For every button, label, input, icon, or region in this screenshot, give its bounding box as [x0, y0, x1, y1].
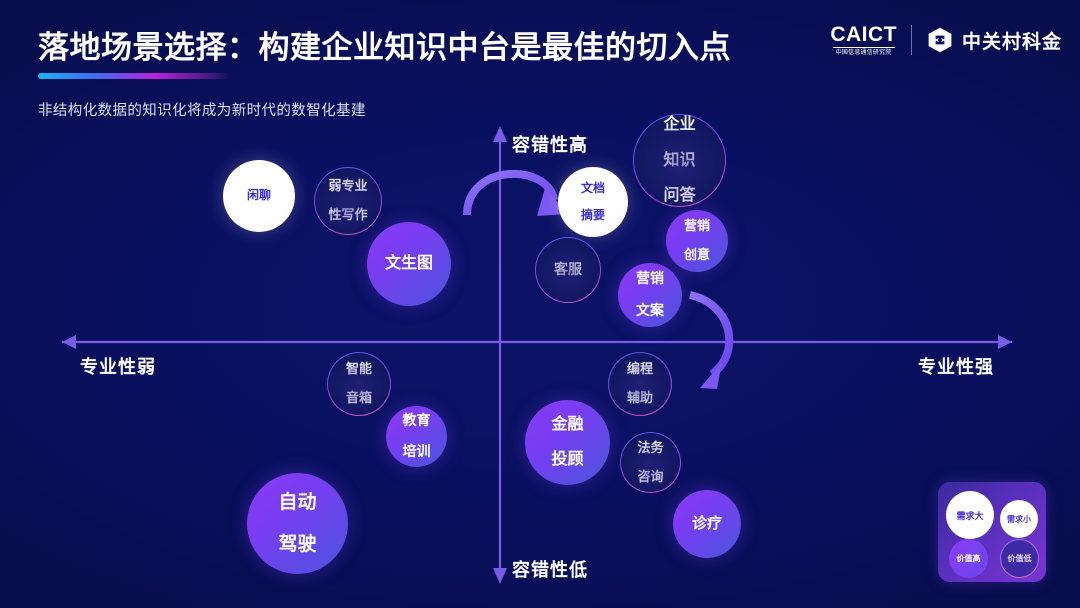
legend-panel: 需求大 需求小 价值高 价值低: [938, 482, 1046, 582]
bubble-jiaoyu-peixun[interactable]: 教育 培训: [386, 406, 447, 467]
slide-header: 落地场景选择：构建企业知识中台是最佳的切入点 非结构化数据的知识化将成为新时代的…: [0, 0, 1080, 92]
axis-label-bottom: 容错性低: [512, 556, 588, 582]
caict-rule: [833, 47, 895, 48]
bubble-label-line2: 摘要: [581, 209, 605, 222]
bubble-wenshengtu[interactable]: 文生图: [367, 222, 451, 306]
bubble-label-line1: 智能: [346, 362, 372, 377]
bubble-label-line2: 驾驶: [278, 534, 316, 555]
bubble-label-line1: 企业: [663, 116, 695, 134]
bubble-yingxiao-chuangyi[interactable]: 营销 创意: [666, 210, 728, 272]
bubble-label-line1: 法务: [637, 441, 663, 456]
legend-value-low: 价值低: [1000, 539, 1039, 578]
bubble-label-line2: 文案: [636, 303, 664, 319]
partner-logo: 中关村科金: [926, 26, 1062, 54]
slide-root: 落地场景选择：构建企业知识中台是最佳的切入点 非结构化数据的知识化将成为新时代的…: [0, 0, 1080, 608]
legend-demand-low: 需求小: [1000, 500, 1038, 538]
partner-name: 中关村科金: [962, 27, 1062, 54]
bubble-yingxiao-wenan[interactable]: 营销 文案: [618, 263, 682, 327]
legend-label: 需求大: [956, 509, 983, 522]
bubble-label-line1: 营销: [636, 271, 664, 287]
cube-logo-icon: [926, 26, 954, 54]
bubble-label-line1: 教育: [403, 413, 431, 429]
bubble-wendang-zhaiyao[interactable]: 文档 摘要: [558, 167, 628, 237]
bubble-jinrong-tougu[interactable]: 金融 投顾: [525, 400, 610, 485]
bubble-label-line2: 创意: [684, 248, 710, 263]
legend-value-high: 价值高: [949, 539, 988, 578]
legend-label: 需求小: [1007, 514, 1031, 525]
bubble-label: 营销 创意: [684, 219, 710, 263]
caict-logo: CAICT 中国信息通信研究院: [830, 24, 897, 56]
bubble-label: 自动 驾驶: [278, 492, 316, 556]
bubble-label-line3: 问答: [663, 187, 695, 205]
bubble-label: 编程 辅助: [627, 362, 653, 406]
page-title: 落地场景选择：构建企业知识中台是最佳的切入点: [38, 22, 731, 67]
bubble-zidong-jiashi[interactable]: 自动 驾驶: [247, 473, 348, 574]
bubble-label-line2: 辅助: [627, 391, 653, 406]
bubble-label-line1: 编程: [627, 362, 653, 377]
bubble-label-line1: 金融: [551, 416, 583, 434]
bubble-qiye-zhishi-wenda[interactable]: 企业 知识 问答: [633, 114, 726, 207]
legend-demand-high: 需求大: [946, 491, 994, 539]
bubble-label-line1: 弱专业: [328, 179, 367, 194]
bubble-label: 文生图: [385, 255, 433, 273]
bubble-fawu-zixun[interactable]: 法务 咨询: [620, 432, 681, 493]
logo-divider: [911, 25, 912, 55]
bubble-label: 教育 培训: [403, 413, 431, 460]
bubble-label-line1: 自动: [278, 492, 316, 513]
axis-label-right: 专业性强: [918, 353, 994, 379]
bubble-biancheng-fuzhu[interactable]: 编程 辅助: [608, 352, 672, 416]
bubble-label-line1: 营销: [684, 219, 710, 234]
bubble-zhineng-yinxiang[interactable]: 智能 音箱: [327, 352, 391, 416]
bubble-label-line2: 咨询: [637, 470, 663, 485]
axis-label-top: 容错性高: [512, 131, 588, 157]
caict-wordmark: CAICT: [830, 24, 897, 45]
bubble-label: 闲聊: [247, 189, 271, 202]
title-underline-bar: [38, 73, 229, 79]
bubble-label-line2: 投顾: [551, 451, 583, 469]
bubble-label: 客服: [554, 262, 582, 278]
axis-label-left: 专业性弱: [80, 353, 156, 379]
bubble-label-line2: 培训: [403, 444, 431, 460]
bubble-label: 文档 摘要: [581, 182, 605, 222]
logo-group: CAICT 中国信息通信研究院 中关村科金: [830, 24, 1062, 56]
bubble-label: 法务 咨询: [637, 441, 663, 485]
bubble-ruozhuanye-xiezuo[interactable]: 弱专业 性写作: [314, 167, 382, 235]
bubble-label-line2: 性写作: [328, 208, 367, 223]
legend-label: 价值低: [1008, 553, 1032, 564]
page-subtitle: 非结构化数据的知识化将成为新时代的数智化基建: [38, 99, 366, 120]
bubble-label: 智能 音箱: [346, 362, 372, 406]
bubble-label: 诊疗: [692, 516, 722, 533]
bubble-label: 弱专业 性写作: [328, 179, 367, 223]
caict-subtext: 中国信息通信研究院: [836, 50, 892, 56]
legend-label: 价值高: [957, 553, 981, 564]
bubble-label-line1: 文档: [581, 182, 605, 195]
bubble-kefu[interactable]: 客服: [535, 237, 601, 303]
bubble-label: 营销 文案: [636, 271, 664, 318]
bubble-xianliao[interactable]: 闲聊: [223, 160, 295, 232]
bubble-label-line2: 音箱: [346, 391, 372, 406]
bubble-zhenliao[interactable]: 诊疗: [673, 490, 741, 558]
bubble-label-line2: 知识: [663, 152, 695, 170]
bubble-label: 企业 知识 问答: [663, 116, 695, 206]
bubble-label: 金融 投顾: [551, 416, 583, 470]
